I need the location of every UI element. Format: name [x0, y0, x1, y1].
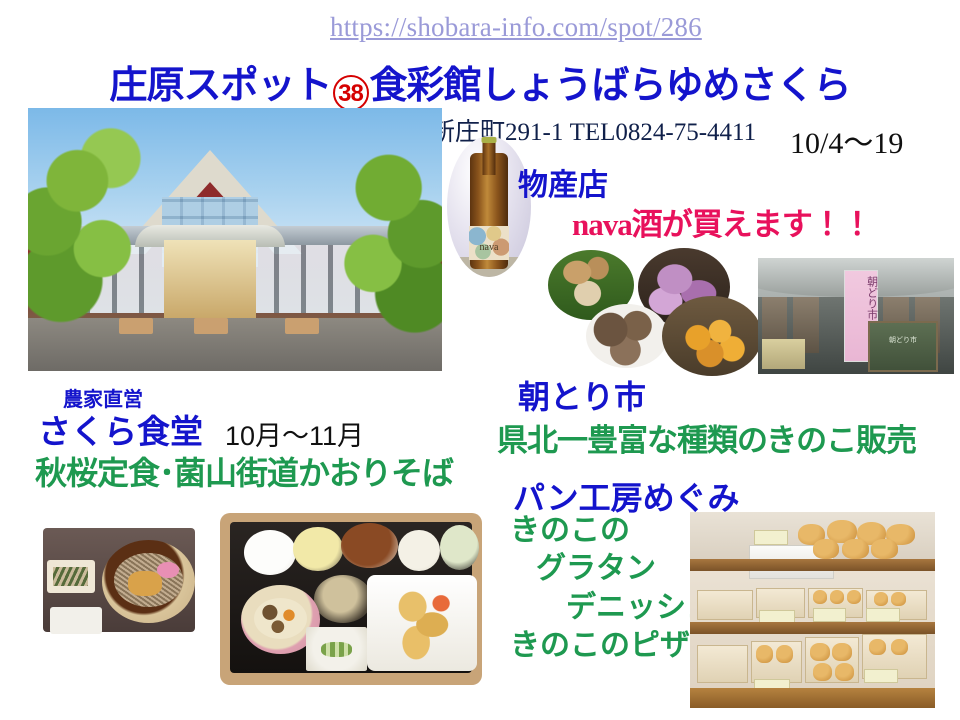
- spot-number-badge: 38: [333, 75, 369, 111]
- page-title: 庄原スポット38食彩館しょうばらゆめさくら: [0, 54, 960, 111]
- photo-teishoku-tempura: [377, 582, 466, 665]
- market-banner-text: 朝どり市: [845, 276, 876, 320]
- event-date-range: 10/4〜19: [790, 118, 903, 162]
- photo-price-tag: [754, 530, 788, 546]
- photo-teishoku-simmered-dish: [341, 523, 399, 568]
- highlight-nava-sake: nava酒が買えます！！: [572, 199, 872, 244]
- photo-pastry: [776, 645, 793, 663]
- photo-bottle-label: nava: [469, 226, 509, 260]
- heading-asadori-ichi: 朝とり市: [518, 372, 646, 418]
- photo-building-exterior: [28, 108, 442, 371]
- photo-price-tag: [813, 608, 847, 622]
- photo-soba-kamaboko: [157, 562, 179, 578]
- photo-bottle-cap: [482, 137, 497, 143]
- page-title-prefix: 庄原スポット: [109, 65, 331, 107]
- photo-bread-loaf: [871, 539, 898, 559]
- photo-bread-loaf: [842, 539, 869, 559]
- photo-shelf-board: [690, 622, 935, 634]
- photo-soba-tempura: [128, 571, 162, 596]
- photo-bun: [874, 592, 889, 606]
- photo-pastry: [813, 663, 833, 681]
- photo-mushroom-nameko: [662, 296, 762, 376]
- photo-bun: [830, 590, 845, 604]
- photo-bakery-counter: [690, 688, 935, 708]
- page-title-suffix: 食彩館しょうばらゆめさくら: [370, 65, 851, 107]
- photo-teishoku-bowl: [244, 530, 296, 575]
- photo-bakery-display: [690, 512, 935, 708]
- photo-price-tag: [864, 669, 898, 683]
- photo-pastry: [756, 645, 773, 663]
- photo-teishoku-pickles: [306, 627, 366, 672]
- photo-bun: [891, 592, 906, 606]
- slide-canvas: https://shobara-info.com/spot/286 庄原スポット…: [0, 0, 960, 720]
- menu-item: きのこの: [510, 512, 716, 550]
- photo-teishoku-soup: [440, 525, 479, 570]
- heading-sakura-shokudo: さくら食堂: [38, 405, 203, 453]
- bottle-label-text: nava: [469, 242, 509, 253]
- photo-planter: [119, 318, 153, 334]
- photo-planter: [194, 318, 228, 334]
- photo-pastry: [869, 639, 886, 655]
- photo-nava-sake-bottle: nava: [447, 136, 531, 277]
- menu-pan-koubou: きのこの グラタン デニッシュ きのこのピザ: [510, 512, 716, 666]
- photo-soba-side-dish: [47, 560, 95, 594]
- photo-soba-pickles: [50, 607, 102, 634]
- photo-bun: [847, 590, 862, 604]
- market-sign-text: 朝どり市: [870, 335, 937, 345]
- photo-akizakura-teishoku: [220, 513, 482, 685]
- menu-item: グラタン: [510, 550, 716, 588]
- photo-tree-right: [293, 129, 442, 339]
- heading-bussanten: 物産店: [518, 160, 608, 204]
- photo-mushroom-shiitake: [586, 304, 668, 368]
- description-sakura-menu: 秋桜定食･菌山街道かおりそば: [35, 448, 453, 494]
- photo-planter: [285, 318, 319, 334]
- photo-bread-loaf: [813, 539, 840, 559]
- photo-pastry: [891, 639, 908, 655]
- photo-market-sign: 朝どり市: [868, 321, 939, 371]
- photo-shelf-board: [690, 559, 935, 571]
- photo-pastry: [832, 643, 852, 661]
- photo-kaori-soba: [33, 524, 205, 636]
- photo-pastry: [835, 663, 855, 681]
- photo-market-produce-crate: [762, 339, 805, 369]
- photo-morning-market: 朝どり市 朝どり市: [758, 258, 954, 374]
- photo-teishoku-mushroom-dish: [314, 575, 372, 623]
- photo-mushroom-collage: [546, 248, 764, 376]
- photo-bun: [813, 590, 828, 604]
- photo-bread-tray: [697, 645, 748, 682]
- photo-tree-left: [28, 113, 177, 339]
- photo-price-tag: [866, 608, 900, 622]
- description-mushroom-sales: 県北一豊富な種類のきのこ販売: [497, 415, 916, 460]
- photo-entrance: [164, 240, 256, 319]
- menu-item: デニッシュ: [510, 589, 716, 627]
- photo-bread-tray: [697, 590, 753, 619]
- menu-item: きのこのピザ: [510, 627, 716, 665]
- photo-bottle-neck: [483, 139, 496, 176]
- source-url-link[interactable]: https://shobara-info.com/spot/286: [330, 12, 702, 43]
- photo-pastry: [810, 643, 830, 661]
